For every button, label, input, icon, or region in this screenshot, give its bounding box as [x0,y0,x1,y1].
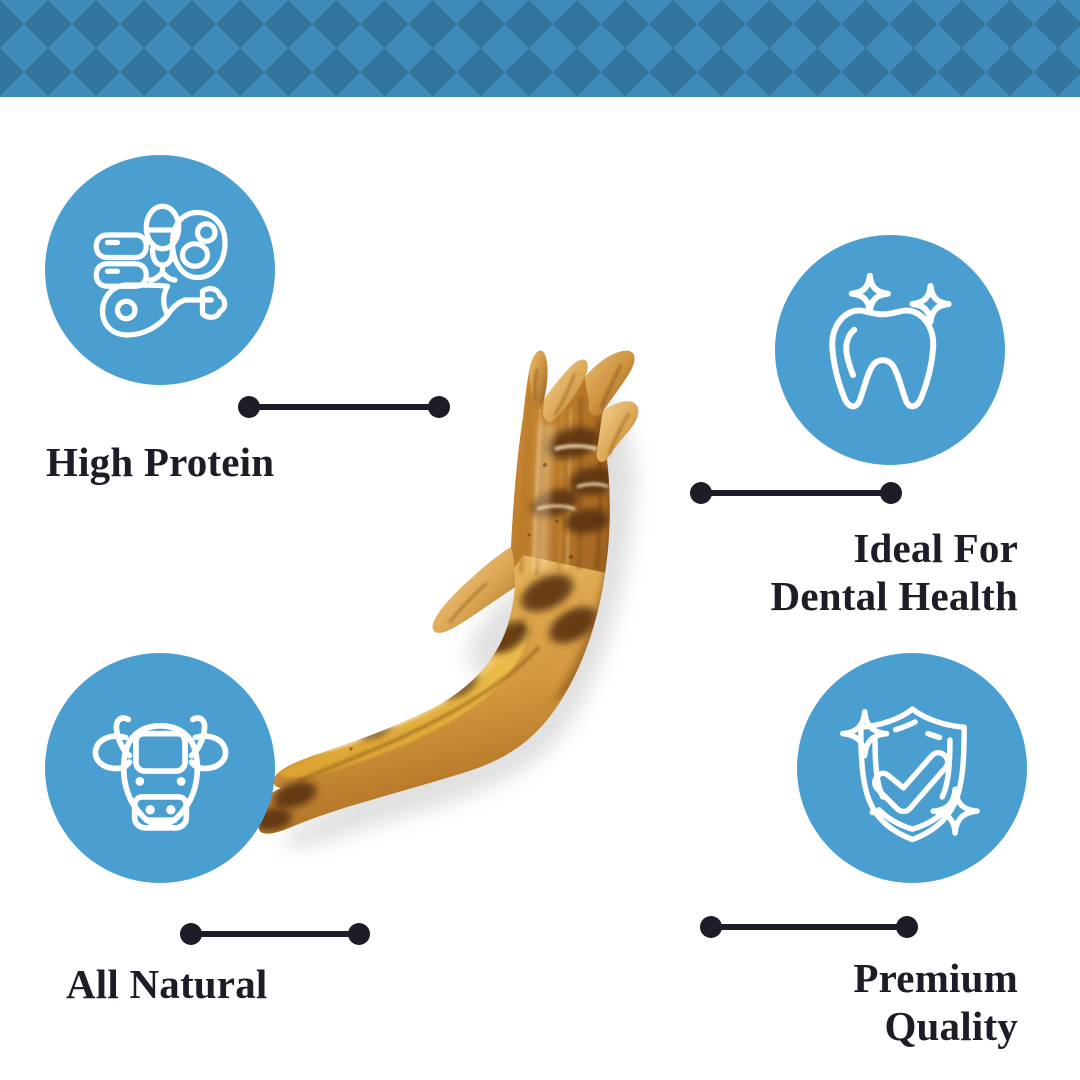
gingham-plaid-banner [0,0,1080,97]
feature-icon-circle-high-protein[interactable] [45,155,275,385]
connector-dot-left [700,916,722,938]
connector-dot-left [238,396,260,418]
cow-head-icon [83,691,238,846]
shield-check-icon [835,691,990,846]
infographic-canvas: High Protein Ideal For Dental Health [0,0,1080,1080]
feature-label-dental-health: Ideal For Dental Health [600,524,1018,621]
feature-icon-circle-dental-health[interactable] [775,235,1005,465]
connector-all-natural [180,923,370,945]
sparkling-tooth-icon [813,273,968,428]
feature-icon-circle-all-natural[interactable] [45,653,275,883]
chew-body [255,351,638,840]
connector-high-protein [238,396,450,418]
connector-bar [246,404,442,410]
connector-dental-health [690,482,902,504]
connector-dot-right [880,482,902,504]
connector-dot-left [690,482,712,504]
feature-label-all-natural: All Natural [66,960,486,1008]
feature-label-high-protein: High Protein [46,438,466,486]
connector-dot-right [896,916,918,938]
connector-bar [708,924,910,930]
feature-icon-circle-premium-quality[interactable] [797,653,1027,883]
connector-bar [188,931,362,937]
connector-dot-right [348,923,370,945]
plaid-pattern-svg [0,0,1080,97]
protein-foods-icon [85,195,235,345]
connector-bar [698,490,894,496]
connector-dot-left [180,923,202,945]
connector-dot-right [428,396,450,418]
feature-label-premium-quality: Premium Quality [600,954,1018,1051]
connector-premium-quality [700,916,918,938]
